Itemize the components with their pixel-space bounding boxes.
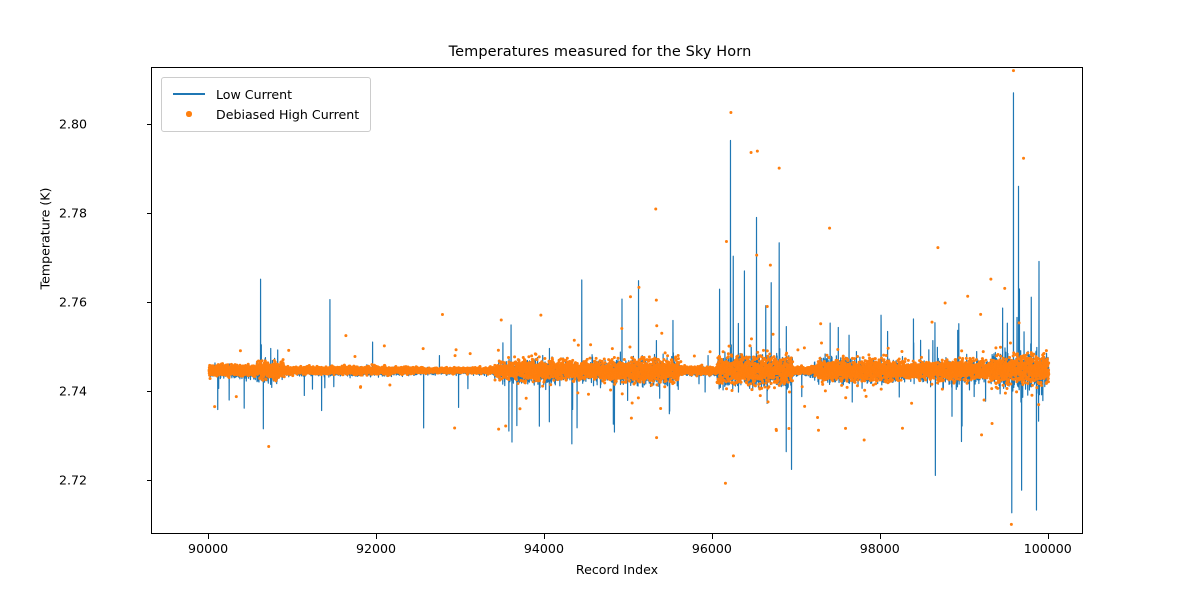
- x-tick-label: 96000: [692, 541, 732, 556]
- chart-canvas: [152, 68, 1083, 534]
- plot-area: [151, 67, 1083, 534]
- x-tick-label: 98000: [860, 541, 900, 556]
- legend-label: Low Current: [216, 87, 292, 102]
- x-tick-mark: [1048, 534, 1049, 539]
- x-tick-mark: [208, 534, 209, 539]
- legend-label: Debiased High Current: [216, 107, 359, 122]
- x-tick-mark: [376, 534, 377, 539]
- x-tick-mark: [544, 534, 545, 539]
- y-tick-label: 2.80: [59, 116, 87, 131]
- chart-legend: Low Current Debiased High Current: [161, 77, 371, 132]
- x-tick-label: 92000: [356, 541, 396, 556]
- x-axis-label: Record Index: [151, 562, 1083, 577]
- x-tick-mark: [880, 534, 881, 539]
- legend-dot-icon: [171, 107, 207, 121]
- y-tick-label: 2.72: [59, 472, 87, 487]
- figure: Temperatures measured for the Sky Horn 2…: [0, 0, 1200, 600]
- y-tick-mark: [147, 480, 152, 481]
- legend-line-icon: [171, 87, 207, 101]
- y-tick-mark: [147, 391, 152, 392]
- y-tick-mark: [147, 213, 152, 214]
- y-tick-mark: [147, 302, 152, 303]
- legend-item-debiased-high-current[interactable]: Debiased High Current: [171, 104, 359, 124]
- y-tick-label: 2.76: [59, 294, 87, 309]
- x-tick-label: 90000: [188, 541, 228, 556]
- y-tick-label: 2.74: [59, 383, 87, 398]
- x-tick-mark: [712, 534, 713, 539]
- x-tick-label: 100000: [1024, 541, 1072, 556]
- y-tick-label: 2.78: [59, 205, 87, 220]
- y-tick-mark: [147, 124, 152, 125]
- y-axis-label: Temperature (K): [38, 89, 53, 389]
- x-tick-label: 94000: [524, 541, 564, 556]
- chart-title: Temperatures measured for the Sky Horn: [0, 44, 1200, 60]
- legend-item-low-current[interactable]: Low Current: [171, 84, 359, 104]
